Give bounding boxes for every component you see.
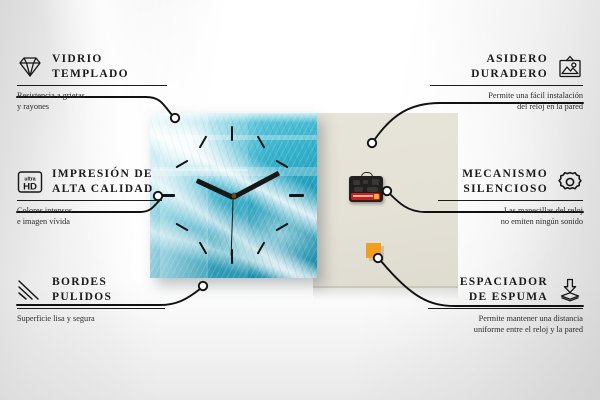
feature-mecanismo-silencioso: MECANISMO SILENCIOSO Las manecillas del … (438, 167, 583, 227)
clock-hour-hand (196, 178, 234, 199)
foam-spacer-icon (557, 278, 583, 302)
clock-movement-mechanism (349, 172, 383, 202)
clock-minute-hand (232, 171, 280, 200)
feature-rule (17, 308, 165, 309)
feature-title-line1: VIDRIO (52, 52, 129, 67)
clock-dial-markers (150, 113, 317, 278)
feature-vidrio-templado: VIDRIO TEMPLADO Resistencia a grietas y … (17, 52, 167, 112)
feature-title-line2: DE ESPUMA (460, 290, 548, 305)
feature-rule (438, 200, 583, 201)
feature-title-line2: PULIDOS (52, 290, 112, 305)
feature-espaciador-de-espuma: ESPACIADOR DE ESPUMA Permite mantener un… (428, 275, 583, 335)
ultra-hd-icon: ultra HD (17, 170, 43, 194)
infographic-canvas: VIDRIO TEMPLADO Resistencia a grietas y … (0, 0, 600, 400)
gear-icon (557, 170, 583, 194)
feature-sub-line1: Permite mantener una distancia (428, 313, 583, 324)
clock-center-hub (231, 193, 236, 198)
feature-sub-line2: y rayones (17, 101, 167, 112)
hanging-frame-icon (557, 55, 583, 79)
feature-title-line1: IMPRESIÓN DE (52, 167, 154, 182)
feature-rule (17, 85, 167, 86)
polished-edges-icon (17, 278, 43, 302)
ultra-hd-icon-bottom-label: HD (23, 181, 37, 192)
feature-bordes-pulidos: BORDES PULIDOS Superficie lisa y segura (17, 275, 165, 324)
feature-sub-line1: Superficie lisa y segura (17, 313, 165, 324)
wall-clock-product (150, 113, 317, 278)
product-backdrop-panel (313, 113, 458, 288)
feature-asidero-duradero: ASIDERO DURADERO Permite una fácil insta… (430, 52, 583, 112)
feature-title-line1: ESPACIADOR (460, 275, 548, 290)
feature-rule (428, 308, 583, 309)
feature-title-line2: TEMPLADO (52, 67, 129, 82)
feature-rule (430, 85, 583, 86)
feature-title-line1: BORDES (52, 275, 112, 290)
diamond-icon (17, 55, 43, 79)
feature-sub-line2: e imagen vívida (17, 216, 162, 227)
battery-label-strip (353, 195, 373, 197)
foam-spacer-sample (366, 243, 381, 258)
feature-sub-line1: Las manecillas del reloj (438, 205, 583, 216)
feature-title-line1: ASIDERO (471, 52, 548, 67)
feature-sub-line1: Colores intensos (17, 205, 162, 216)
feature-impresion-alta-calidad: ultra HD IMPRESIÓN DE ALTA CALIDAD Color… (17, 167, 162, 227)
feature-title-line2: ALTA CALIDAD (52, 182, 154, 197)
feature-sub-line1: Resistencia a grietas (17, 90, 167, 101)
feature-title-line2: DURADERO (471, 67, 548, 82)
feature-rule (17, 200, 162, 201)
feature-sub-line2: del reloj en la pared (430, 101, 583, 112)
clock-second-hand (230, 196, 233, 256)
feature-sub-line2: no emiten ningún sonido (438, 216, 583, 227)
feature-title-line2: SILENCIOSO (462, 182, 548, 197)
feature-sub-line1: Permite una fácil instalación (430, 90, 583, 101)
feature-title-line1: MECANISMO (462, 167, 548, 182)
feature-sub-line2: uniforme entre el reloj y la pared (428, 324, 583, 335)
